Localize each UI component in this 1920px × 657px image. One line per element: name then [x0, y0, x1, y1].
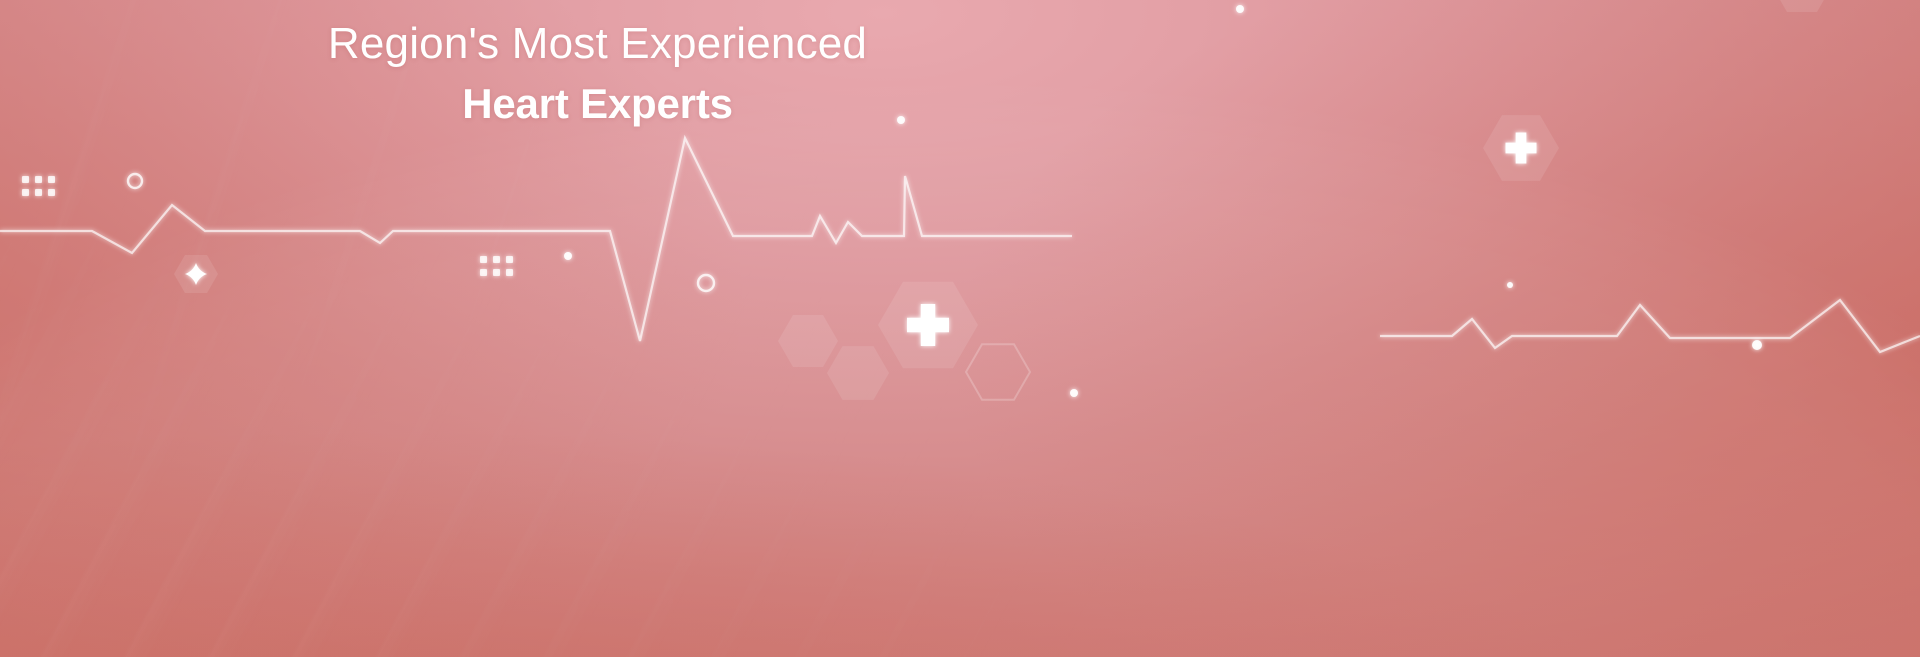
hero-banner: Region's Most Experienced Heart Experts — [0, 0, 1920, 657]
page-title: Region's Most Experienced — [0, 22, 1195, 66]
page-subtitle: Heart Experts — [0, 83, 1195, 125]
headline-block: Region's Most Experienced Heart Experts — [0, 22, 1195, 125]
